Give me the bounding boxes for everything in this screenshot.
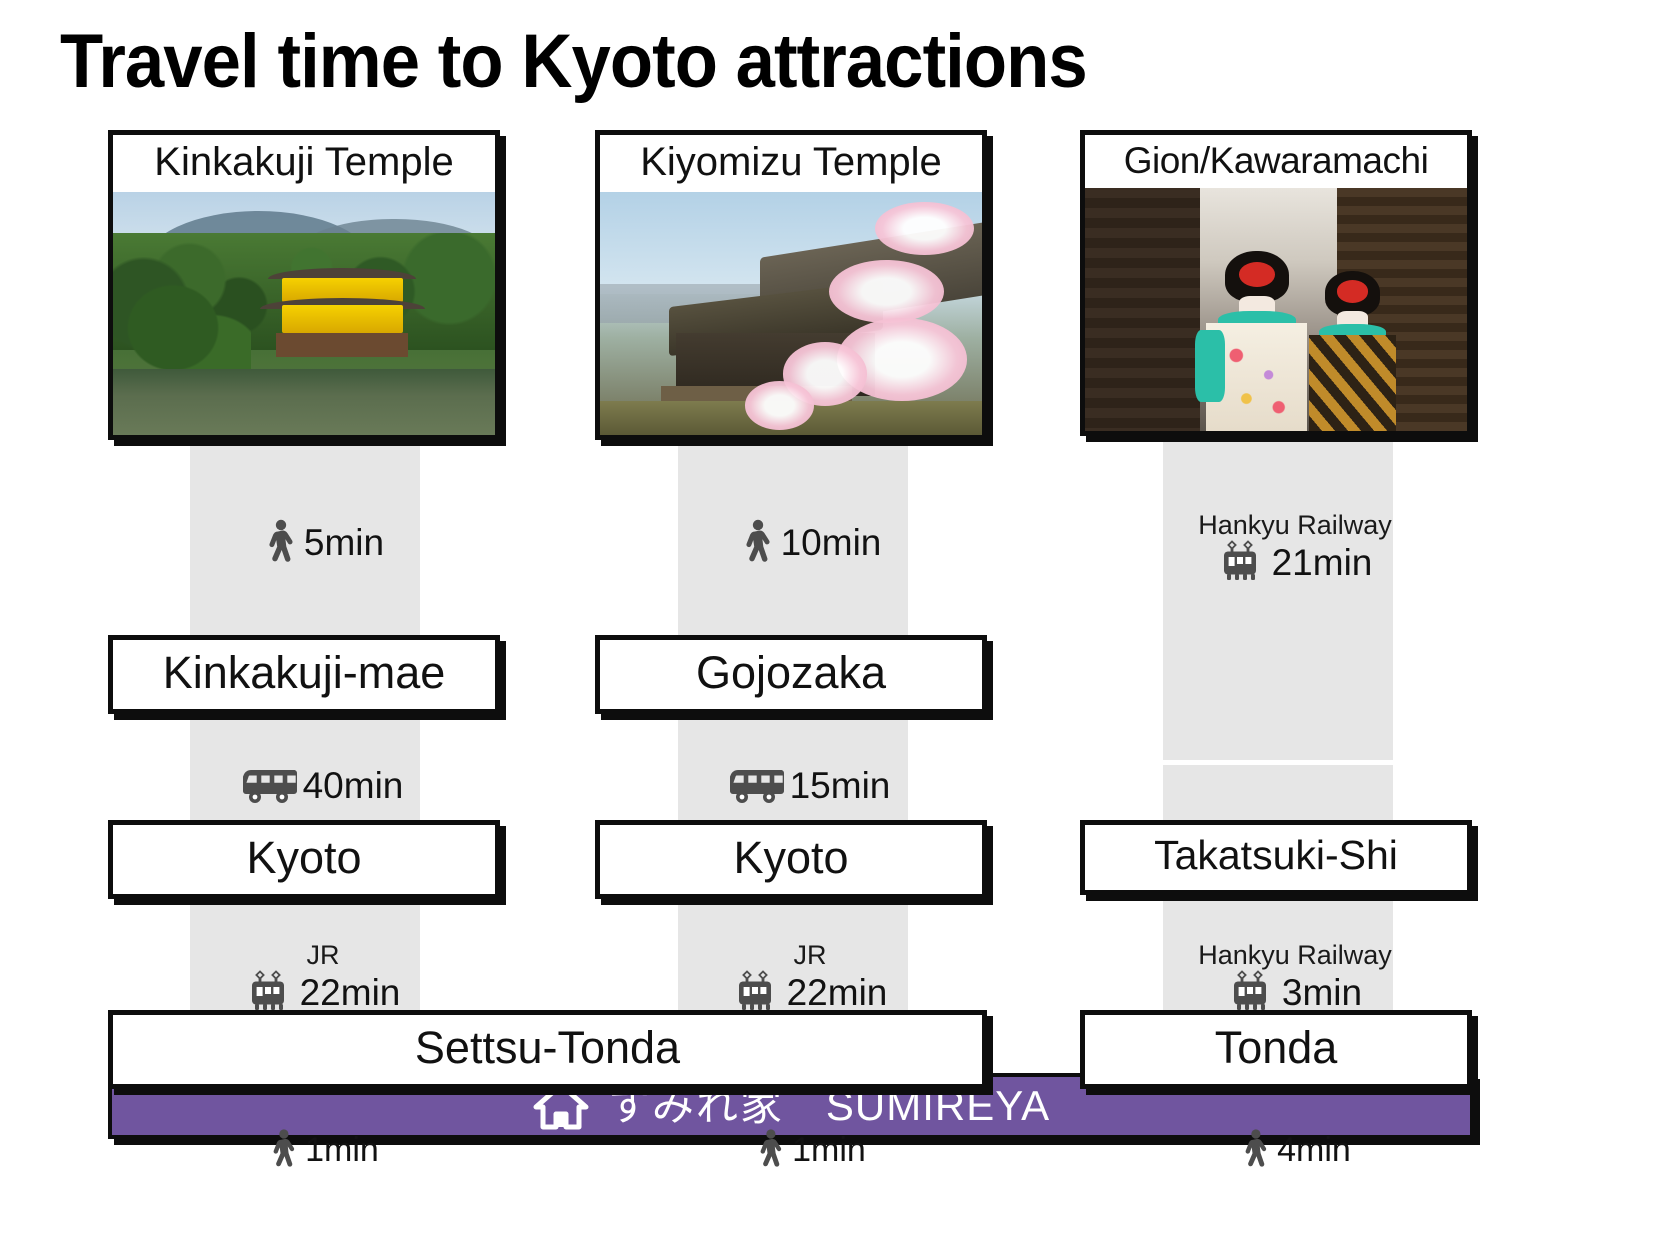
train-icon — [733, 970, 781, 1014]
leg-time: 15min — [790, 767, 891, 804]
kinkakuji-golden-pavilion-photo — [113, 192, 495, 435]
train-icon — [1228, 970, 1276, 1014]
station-label: Kinkakuji-mae — [163, 647, 446, 698]
train-icon — [246, 970, 294, 1014]
kiyomizu-temple-sakura-photo — [600, 192, 982, 435]
walk-icon — [739, 519, 775, 567]
leg-time: 5min — [304, 524, 384, 561]
leg-col3-walk: 4min — [1180, 1105, 1410, 1195]
leg-time: 40min — [303, 767, 404, 804]
bus-icon — [730, 765, 784, 805]
leg-col2-walk-1: 10min — [695, 450, 925, 635]
station-kyoto-col1[interactable]: Kyoto — [108, 820, 500, 899]
station-kinkakuji-mae[interactable]: Kinkakuji-mae — [108, 635, 500, 714]
attraction-title: Kiyomizu Temple — [600, 135, 982, 192]
leg-col3-train-1: Hankyu Railway — [1180, 460, 1410, 635]
station-takatsuki-shi[interactable]: Takatsuki-Shi — [1080, 820, 1472, 895]
leg-time: 1min — [305, 1133, 379, 1167]
leg-time: 4min — [1277, 1133, 1351, 1167]
station-label: Kyoto — [246, 832, 361, 883]
walk-icon — [262, 519, 298, 567]
page-title: Travel time to Kyoto attractions — [60, 24, 1087, 100]
attraction-title: Gion/Kawaramachi — [1085, 135, 1467, 188]
station-label: Tonda — [1215, 1022, 1338, 1073]
attraction-card-kinkakuji[interactable]: Kinkakuji Temple — [108, 130, 500, 440]
leg-col2-walk-2: 1min — [695, 1105, 925, 1195]
station-tonda[interactable]: Tonda — [1080, 1010, 1472, 1089]
bus-icon — [243, 765, 297, 805]
station-kyoto-col2[interactable]: Kyoto — [595, 820, 987, 899]
walk-icon — [267, 1128, 299, 1172]
attraction-card-gion[interactable]: Gion/Kawaramachi — [1080, 130, 1472, 436]
leg-col1-walk-2: 1min — [208, 1105, 438, 1195]
station-label: Kyoto — [733, 832, 848, 883]
gion-maiko-alley-photo — [1085, 188, 1467, 431]
travel-time-board: Kinkakuji Temple — [0, 130, 1676, 1160]
leg-col1-walk-1: 5min — [208, 450, 438, 635]
leg-mode-label: Hankyu Railway — [1198, 941, 1392, 969]
leg-mode-label: Hankyu Railway — [1198, 511, 1392, 539]
leg-time: 22min — [300, 974, 401, 1011]
station-label: Gojozaka — [696, 647, 886, 698]
train-icon — [1218, 540, 1266, 584]
station-label: Takatsuki-Shi — [1154, 832, 1398, 878]
leg-time: 10min — [781, 524, 882, 561]
leg-time: 22min — [787, 974, 888, 1011]
station-label: Settsu-Tonda — [415, 1022, 680, 1073]
walk-icon — [1239, 1128, 1271, 1172]
leg-time: 1min — [792, 1133, 866, 1167]
attraction-title: Kinkakuji Temple — [113, 135, 495, 192]
leg-time: 21min — [1272, 544, 1373, 581]
leg-time: 3min — [1282, 974, 1362, 1011]
station-gojozaka[interactable]: Gojozaka — [595, 635, 987, 714]
leg-mode-label: JR — [794, 941, 827, 969]
station-settsu-tonda[interactable]: Settsu-Tonda — [108, 1010, 987, 1089]
walk-icon — [754, 1128, 786, 1172]
leg-mode-label: JR — [307, 941, 340, 969]
attraction-card-kiyomizu[interactable]: Kiyomizu Temple — [595, 130, 987, 440]
